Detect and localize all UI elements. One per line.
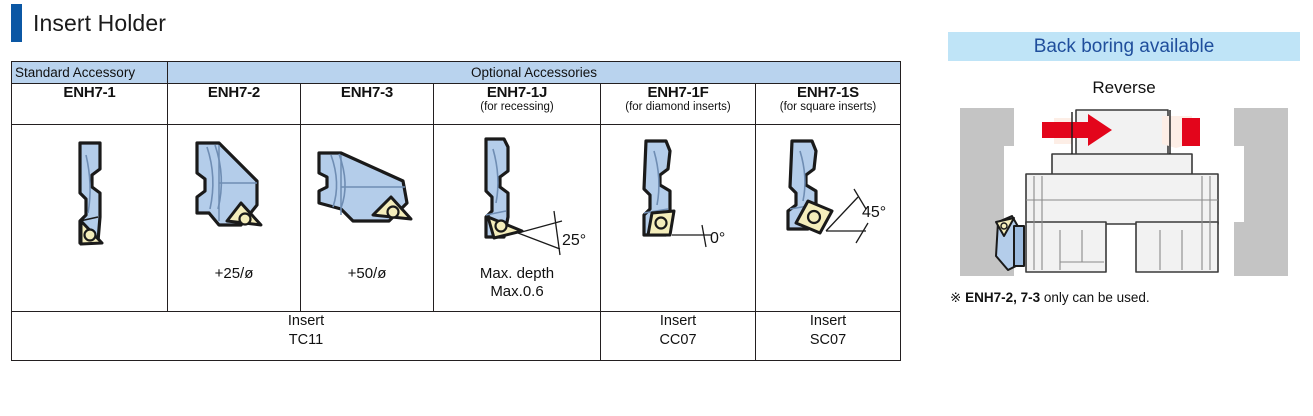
product-spec-page: Insert Holder Standard Accessory Optiona… xyxy=(0,0,1313,416)
holder-diamond-icon: 0° xyxy=(601,125,755,265)
column-header-enh7-1j: ENH7-1J (for recessing) xyxy=(434,84,601,125)
model-name: ENH7-1 xyxy=(12,84,167,101)
cell-note: Max. depthMax.0.6 xyxy=(434,265,600,301)
model-subtitle: (for diamond inserts) xyxy=(601,101,755,114)
column-header-enh7-1s: ENH7-1S (for square inserts) xyxy=(756,84,901,125)
illustration-cell-enh7-1s: 45° xyxy=(756,125,901,312)
holder-straight-icon xyxy=(12,125,167,265)
illustration-cell-enh7-1 xyxy=(12,125,168,312)
angle-label-25: 25° xyxy=(562,232,586,249)
angle-label-45: 45° xyxy=(862,204,886,221)
insert-label: Insert xyxy=(12,312,600,331)
angle-label-0: 0° xyxy=(710,230,725,247)
footnote: ※ ENH7-2, 7-3 only can be used. xyxy=(948,290,1300,306)
model-name: ENH7-1F xyxy=(601,84,755,101)
table-insert-row: Insert TC11 Insert CC07 Insert SC07 xyxy=(12,312,901,361)
table-name-row: ENH7-1 ENH7-2 ENH7-3 ENH7-1J (for recess… xyxy=(12,84,901,125)
holder-50deg-icon xyxy=(301,125,433,265)
insert-label: Insert xyxy=(756,312,900,331)
insert-code: TC11 xyxy=(12,331,600,350)
page-title-block: Insert Holder xyxy=(11,3,166,43)
holder-25deg-icon xyxy=(168,125,300,265)
insert-label: Insert xyxy=(601,312,755,331)
insert-code: SC07 xyxy=(756,331,900,350)
title-accent-bar xyxy=(11,4,22,42)
illustration-cell-enh7-1f: 0° xyxy=(601,125,756,312)
model-subtitle: (for square inserts) xyxy=(756,101,900,114)
illustration-cell-enh7-1j: 25° Max. depthMax.0.6 xyxy=(434,125,601,312)
back-boring-panel: Back boring available Reverse xyxy=(948,32,1300,306)
column-header-enh7-3: ENH7-3 xyxy=(301,84,434,125)
illustration-cell-enh7-2: +25/ø xyxy=(168,125,301,312)
model-subtitle: (for recessing) xyxy=(434,101,600,114)
tool-holder-icon xyxy=(996,216,1024,270)
model-name: ENH7-3 xyxy=(301,84,433,101)
holder-recess-icon: 25° xyxy=(434,125,600,265)
back-boring-badge: Back boring available xyxy=(948,32,1300,61)
cell-note: +25/ø xyxy=(168,265,300,283)
page-title: Insert Holder xyxy=(33,10,166,37)
table-illustration-row: +25/ø xyxy=(12,125,901,312)
illustration-cell-enh7-3: +50/ø xyxy=(301,125,434,312)
reverse-caption: Reverse xyxy=(948,78,1300,98)
holder-square-icon: 45° xyxy=(756,125,900,265)
insert-cell-tc11: Insert TC11 xyxy=(12,312,601,361)
footnote-mark: ※ xyxy=(950,290,961,305)
group-header-standard: Standard Accessory xyxy=(12,62,168,84)
footnote-models: ENH7-2, 7-3 xyxy=(965,290,1040,305)
column-header-enh7-2: ENH7-2 xyxy=(168,84,301,125)
model-name: ENH7-2 xyxy=(168,84,300,101)
cell-note: +50/ø xyxy=(301,265,433,283)
column-header-enh7-1: ENH7-1 xyxy=(12,84,168,125)
model-name: ENH7-1S xyxy=(756,84,900,101)
model-name: ENH7-1J xyxy=(434,84,600,101)
insert-holder-table: Standard Accessory Optional Accessories … xyxy=(11,61,901,361)
insert-cell-cc07: Insert CC07 xyxy=(601,312,756,361)
insert-cell-sc07: Insert SC07 xyxy=(756,312,901,361)
column-header-enh7-1f: ENH7-1F (for diamond inserts) xyxy=(601,84,756,125)
table-group-header-row: Standard Accessory Optional Accessories xyxy=(12,62,901,84)
back-boring-illustration xyxy=(948,104,1300,284)
insert-code: CC07 xyxy=(601,331,755,350)
footnote-text: only can be used. xyxy=(1040,290,1150,305)
group-header-optional: Optional Accessories xyxy=(168,62,901,84)
